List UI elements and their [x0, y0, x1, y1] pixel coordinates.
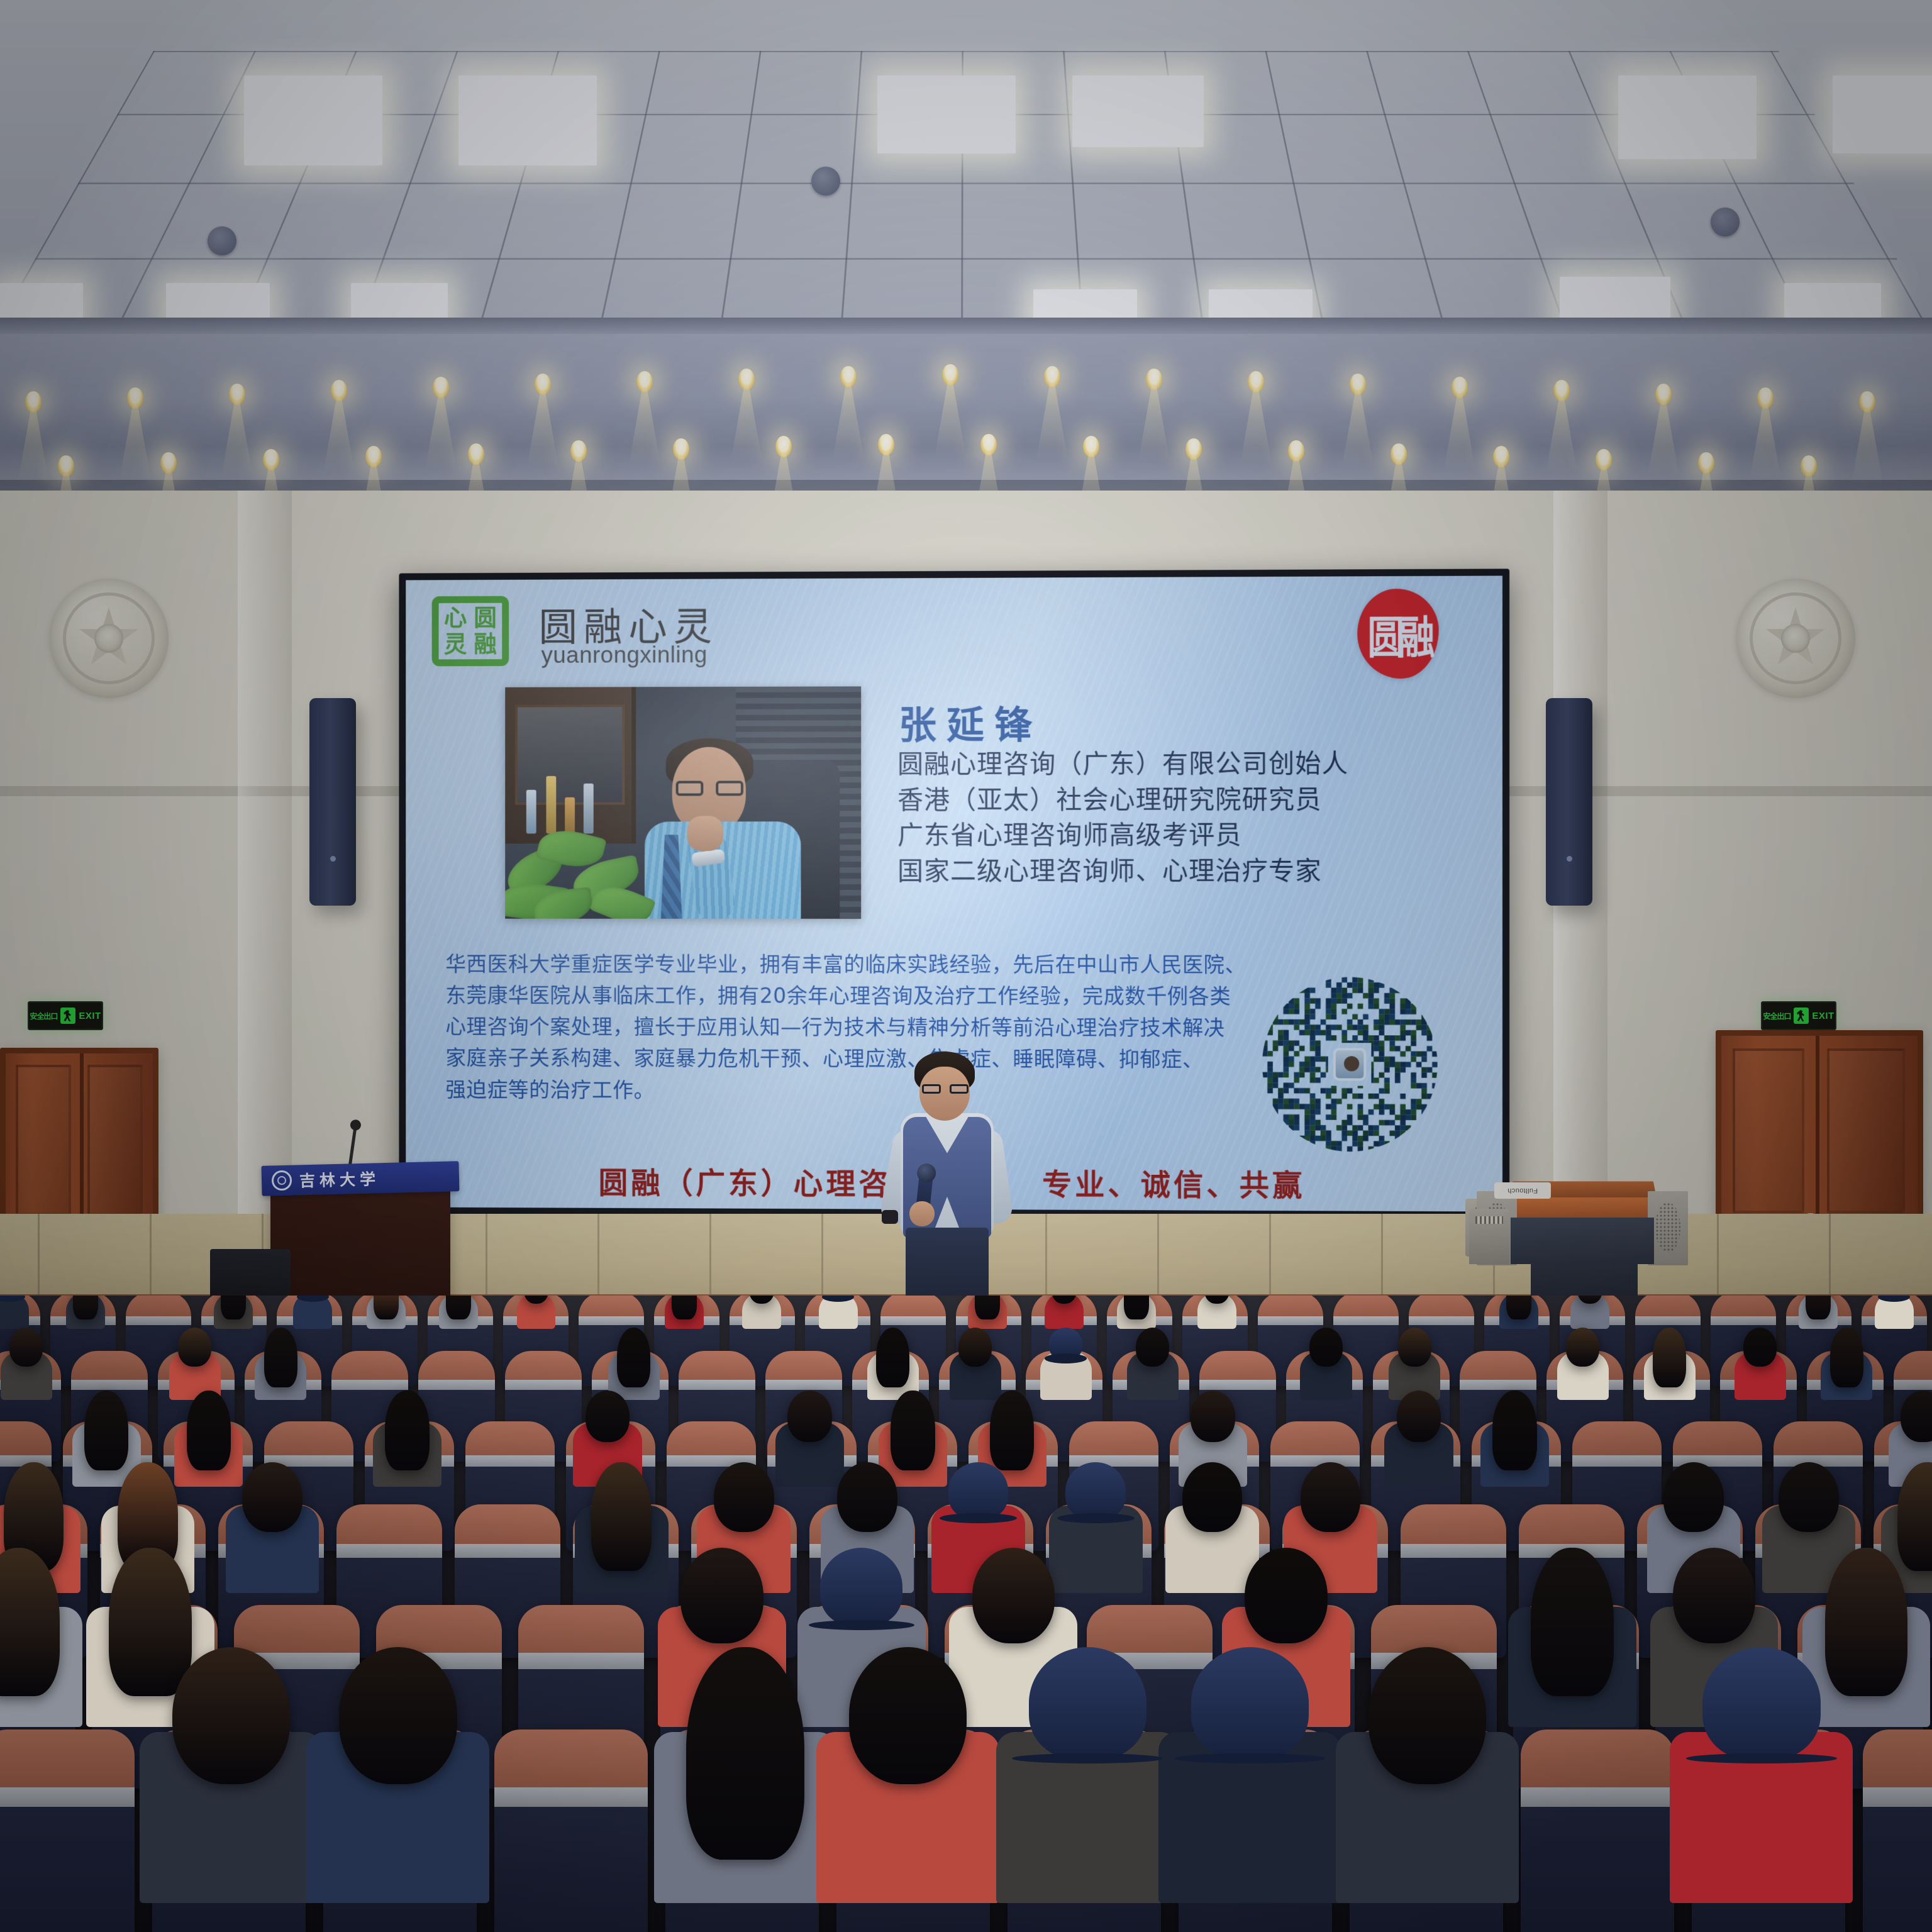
ceiling-downlight — [25, 391, 42, 413]
red-seal-stamp: 圆融 — [1357, 589, 1438, 679]
exit-sign-left: 安全出口 EXIT — [28, 1001, 103, 1030]
audience-member-head — [264, 1328, 297, 1387]
audience-member-head — [1309, 1328, 1343, 1366]
audience-member-head — [84, 1391, 128, 1470]
audience-member-head — [1182, 1462, 1243, 1532]
ceiling-light-panel — [1833, 75, 1932, 153]
footer-slogan: 专业、诚信、共赢 — [1042, 1160, 1305, 1204]
ceiling-downlight — [1801, 455, 1817, 477]
ceiling-downlight — [738, 369, 755, 390]
ceiling-downlight — [1248, 371, 1264, 392]
auditorium-seat[interactable] — [0, 1729, 135, 1932]
ceiling-downlight — [980, 434, 997, 455]
audience-member-head — [1882, 1296, 1907, 1298]
audience-member-head — [1531, 1548, 1613, 1696]
presenter-on-stage — [882, 1052, 1014, 1303]
credential-line: 国家二级心理咨询师、心理治疗专家 — [897, 853, 1467, 889]
ceiling-downlight — [1698, 452, 1714, 474]
credential-line: 香港（亚太）社会心理研究院研究员 — [897, 781, 1467, 818]
ceiling-downlight — [1146, 369, 1162, 390]
audience-member-head — [975, 1296, 1000, 1319]
ceiling-downlight — [673, 438, 689, 460]
ceiling-downlight — [942, 364, 958, 386]
audience-member-head — [672, 1296, 697, 1319]
exit-label-en-2: EXIT — [1812, 1011, 1834, 1021]
audience-member-head — [1029, 1647, 1147, 1759]
audience-member-head — [1049, 1328, 1082, 1359]
seal-stamp-text: 圆融 — [1367, 601, 1428, 666]
audience-member-head — [1065, 1462, 1126, 1519]
wall-medallion-left — [49, 579, 169, 698]
audience-member-head — [1397, 1391, 1441, 1442]
exit-sign-right: 安全出口 EXIT — [1761, 1001, 1836, 1030]
audience-member-head — [714, 1462, 774, 1532]
audience-member-head — [972, 1548, 1055, 1643]
ceiling-vent — [811, 167, 840, 196]
ceiling-downlight — [127, 387, 143, 409]
credential-line: 广东省心理咨询师高级考评员 — [897, 817, 1467, 853]
logo-char-4: 融 — [474, 633, 497, 656]
audience-member-head — [1368, 1647, 1487, 1784]
audience-member-head — [242, 1462, 303, 1532]
audience-member-head — [1779, 1462, 1839, 1532]
ceiling-downlight — [535, 374, 551, 395]
auditorium-seat[interactable] — [494, 1729, 648, 1932]
speaker-portrait-photo — [505, 686, 861, 919]
ceiling-downlight — [1350, 374, 1366, 395]
audience-member-head — [1191, 1391, 1235, 1442]
audience-member-head — [1136, 1328, 1169, 1366]
ceiling-downlight — [840, 366, 857, 387]
audience-member-head — [1124, 1296, 1149, 1319]
audience-member-head — [586, 1391, 630, 1442]
audience-member-head — [990, 1391, 1034, 1470]
exit-label-en: EXIT — [79, 1011, 101, 1021]
credential-line: 圆融心理咨询（广东）有限公司创始人 — [897, 745, 1467, 782]
podium-university-name: 吉林大学 — [299, 1167, 380, 1191]
audience-member-head — [9, 1328, 43, 1366]
soffit-lip-upper — [0, 318, 1932, 334]
ceiling-downlight — [1493, 446, 1509, 467]
ceiling — [0, 0, 1932, 352]
bio-line: 心理咨询个案处理，擅长于应用认知—行为技术与精神分析等前沿心理治疗技术解决 — [445, 1011, 1387, 1045]
ceiling-vent — [1711, 208, 1740, 236]
ceiling-vent — [208, 226, 236, 255]
audience-member-head — [680, 1548, 763, 1643]
audience-member-head — [172, 1647, 291, 1784]
audience-member-head — [1663, 1462, 1724, 1532]
ceiling-downlight — [1452, 377, 1468, 398]
audience-member-head — [591, 1462, 652, 1570]
brand-name-pinyin: yuanrongxinling — [541, 641, 708, 669]
ceiling-downlight — [570, 440, 587, 462]
audience-member-head — [820, 1548, 902, 1626]
presentation-clicker[interactable] — [882, 1210, 898, 1224]
audience-member-head — [617, 1328, 650, 1387]
ceiling-downlight — [331, 380, 347, 401]
ceiling-downlight — [1044, 366, 1060, 387]
audience-member-head — [1673, 1548, 1755, 1643]
ceiling-downlight — [1596, 449, 1612, 470]
audience-member-head — [826, 1296, 851, 1298]
portrait-plant — [505, 809, 667, 918]
audience-member-head — [1301, 1462, 1361, 1532]
audience-member-head — [339, 1647, 457, 1784]
ceiling-downlight — [263, 449, 279, 470]
ceiling-downlight — [878, 434, 894, 455]
audience-member-head — [187, 1391, 231, 1470]
running-man-icon-2 — [1794, 1008, 1809, 1024]
audience-member-head — [849, 1647, 967, 1784]
ceiling-downlight — [229, 384, 245, 405]
ceiling-downlight — [58, 455, 74, 477]
auditorium-seat[interactable] — [1863, 1729, 1932, 1932]
lectern-brand-label: Fulltouch — [1494, 1182, 1551, 1199]
ceiling-light-panel — [1618, 75, 1757, 159]
logo-char-1: 心 — [444, 606, 467, 630]
audience-member-head — [1830, 1328, 1863, 1387]
auditorium-seat[interactable] — [1521, 1729, 1674, 1932]
ceiling-downlight — [1553, 380, 1570, 401]
audience-member-head — [221, 1296, 246, 1319]
speaker-credentials: 圆融心理咨询（广东）有限公司创始人 香港（亚太）社会心理研究院研究员 广东省心理… — [897, 745, 1467, 889]
audience-member-head — [73, 1296, 98, 1319]
ceiling-downlight — [1083, 436, 1099, 457]
audience-member-head — [958, 1328, 992, 1366]
audience-member-head — [1566, 1328, 1599, 1366]
multimedia-lectern[interactable]: Fulltouch — [1469, 1174, 1696, 1312]
ceiling-downlight — [1859, 391, 1875, 413]
audience-member-head — [837, 1462, 897, 1532]
ceiling-downlight — [1185, 438, 1202, 460]
ceiling-downlight — [636, 371, 653, 392]
lecture-hall-photo: 安全出口 EXIT 安全出口 EXIT — [0, 0, 1932, 1932]
audience-member-head — [1806, 1296, 1831, 1319]
podium: 吉林大学 — [270, 1185, 450, 1308]
university-emblem-icon — [272, 1170, 292, 1191]
audience-member-head — [109, 1548, 191, 1696]
ceiling-downlight — [1288, 440, 1304, 462]
audience-member-head — [1398, 1328, 1431, 1366]
ceiling-downlight — [468, 443, 484, 465]
logo-char-2: 圆 — [474, 606, 497, 630]
exit-label-cn-2: 安全出口 — [1763, 1011, 1790, 1021]
bio-line: 东莞康华医院从事临床工作，拥有20余年心理咨询及治疗工作经验，完成数千例各类 — [445, 980, 1387, 1013]
bio-line: 华西医科大学重症医学专业毕业，拥有丰富的临床实践经验，先后在中山市人民医院、 — [445, 948, 1387, 980]
audience-member-head — [0, 1296, 22, 1298]
audience-member-head — [1245, 1548, 1327, 1643]
wall-medallion-right — [1736, 579, 1855, 698]
audience-member-head — [891, 1391, 935, 1470]
ceiling-downlight — [365, 446, 382, 467]
speaker-name: 张延锋 — [899, 695, 1042, 750]
audience-member-head — [385, 1391, 429, 1470]
audience-member-head — [1506, 1296, 1531, 1319]
ceiling-light-panel — [1072, 75, 1204, 147]
ceiling-downlight — [160, 452, 177, 474]
ceiling-light-panel — [244, 75, 382, 165]
ceiling-downlight — [775, 436, 792, 457]
ceiling-downlight — [1655, 384, 1672, 405]
audience-member-head — [300, 1296, 325, 1298]
audience-seating — [0, 1296, 1932, 1932]
ceiling-downlight — [1757, 387, 1774, 409]
ceiling-light-panel — [458, 75, 597, 165]
ceiling-downlight — [433, 377, 449, 398]
exit-label-cn: 安全出口 — [30, 1011, 57, 1021]
audience-member-head — [178, 1328, 211, 1366]
audience-member-head — [446, 1296, 471, 1319]
running-man-icon — [60, 1008, 75, 1024]
audience-member-head — [1191, 1647, 1309, 1759]
ceiling-light-panel — [877, 75, 1016, 153]
audience-member-head — [1492, 1391, 1536, 1470]
audience-member-head — [1743, 1328, 1777, 1366]
audience-member-head — [876, 1328, 909, 1387]
wall-speaker-right — [1546, 698, 1592, 906]
logo-char-3: 灵 — [444, 633, 467, 656]
audience-member-head — [1702, 1647, 1821, 1759]
audience-member-head — [374, 1296, 399, 1319]
podium-name-band: 吉林大学 — [261, 1161, 459, 1196]
ceiling-downlight — [1391, 443, 1407, 465]
wall-speaker-left — [309, 698, 356, 906]
audience-member-head — [787, 1391, 831, 1442]
audience-member-head — [1825, 1548, 1907, 1696]
audience-member-head — [948, 1462, 1009, 1519]
audience-member-head — [1653, 1328, 1686, 1387]
audience-member-head — [686, 1647, 804, 1859]
company-logo-seal: 心 圆 灵 融 — [432, 596, 509, 667]
